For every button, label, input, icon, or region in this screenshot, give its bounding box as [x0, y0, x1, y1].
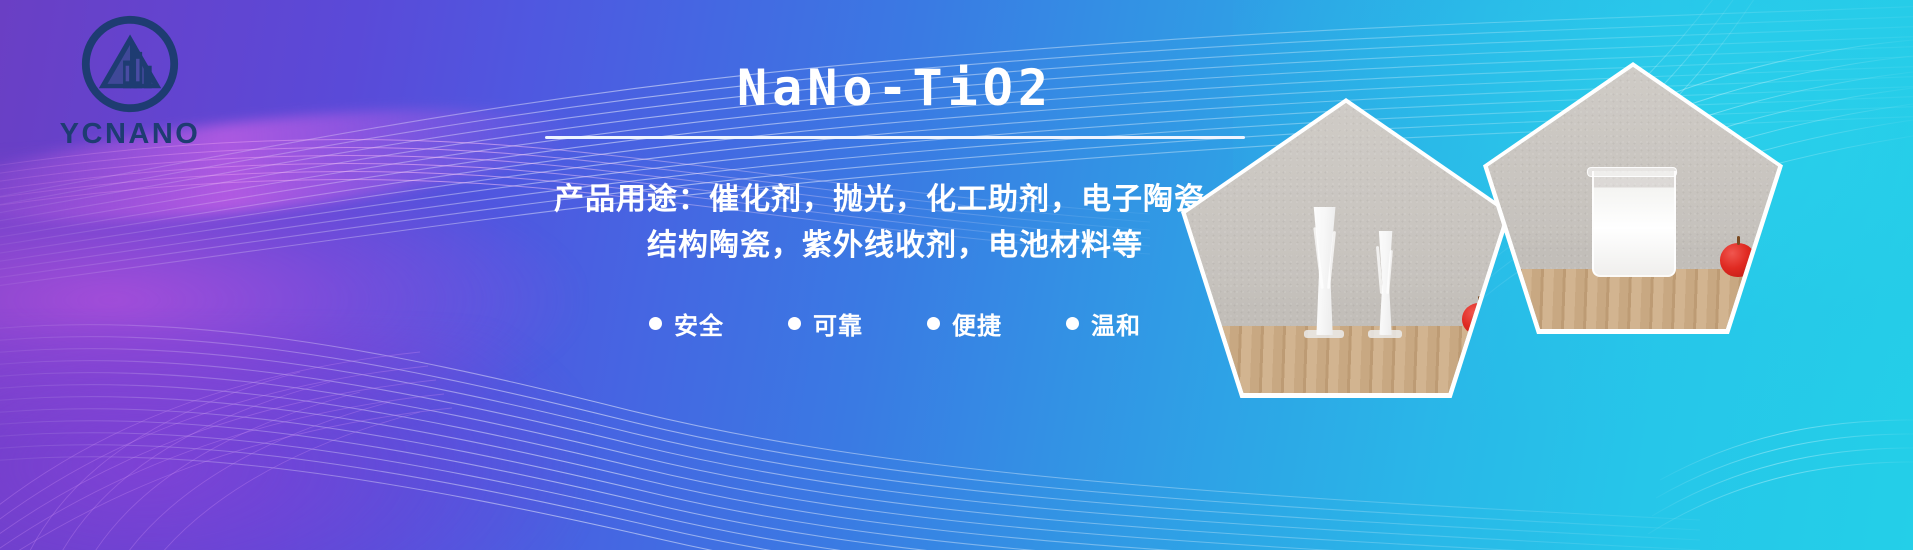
feature-label: 可靠 [813, 306, 863, 341]
wood-shelf [1488, 269, 1778, 329]
product-photo-slurry-beaker[interactable] [1483, 62, 1783, 334]
bullet-dot-icon [927, 317, 940, 330]
apple-stem [1737, 236, 1740, 245]
brand-logo[interactable]: YCNANO [40, 12, 220, 151]
red-apple [1720, 243, 1756, 277]
photo-scene [1488, 67, 1778, 329]
red-apple [1462, 303, 1496, 335]
feature-label: 温和 [1091, 306, 1141, 341]
beaker-lip [1587, 167, 1677, 177]
apple-stem [1478, 296, 1481, 305]
feature-label: 安全 [674, 306, 724, 341]
feature-item-safe: 安全 [649, 306, 724, 341]
purple-bottom-glow [0, 330, 580, 550]
bullet-dot-icon [649, 317, 662, 330]
wood-shelf [1186, 326, 1506, 393]
title-divider [545, 136, 1245, 139]
bullet-dot-icon [788, 317, 801, 330]
brand-wordmark: YCNANO [40, 118, 220, 151]
product-photo-group [1153, 0, 1913, 550]
photo-clip [1186, 103, 1506, 393]
ycnano-triangle-circle-logo-icon [78, 12, 182, 116]
glass-beaker [1592, 171, 1676, 277]
feature-label: 便捷 [952, 306, 1002, 341]
product-photo-ceramic-vases[interactable] [1181, 98, 1511, 398]
product-banner: YCNANO NaNo-TiO2 产品用途：催化剂，抛光，化工助剂，电子陶瓷， … [0, 0, 1913, 550]
photo-scene [1186, 103, 1506, 393]
feature-item-mild: 温和 [1066, 306, 1141, 341]
feature-item-reliable: 可靠 [788, 306, 863, 341]
photo-clip [1488, 67, 1778, 329]
bullet-dot-icon [1066, 317, 1079, 330]
feature-item-convenient: 便捷 [927, 306, 1002, 341]
